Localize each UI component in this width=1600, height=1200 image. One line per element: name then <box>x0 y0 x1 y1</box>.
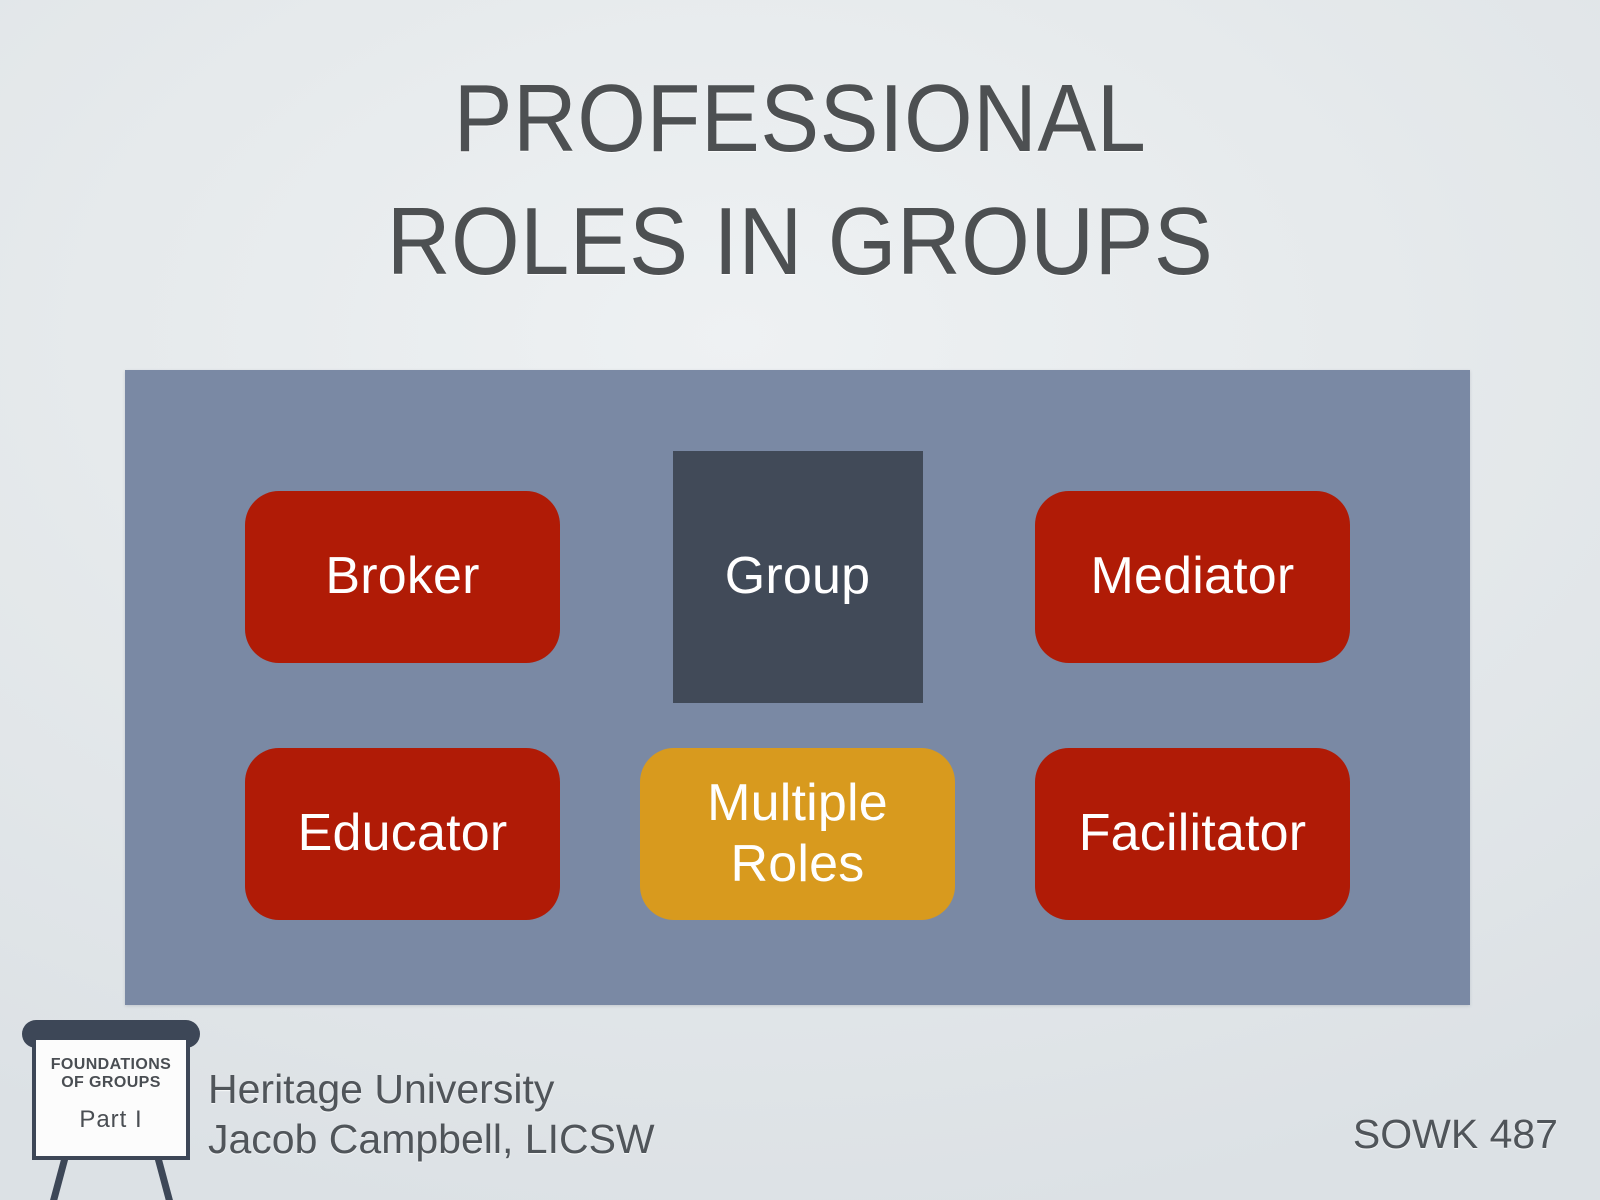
footer-presenter: Jacob Campbell, LICSW <box>208 1114 655 1164</box>
multiple-roles-line-2: Roles <box>731 835 865 893</box>
cell-multiple-roles: Multiple Roles <box>640 748 955 920</box>
roles-diagram-panel: Broker Group Mediator Educator Multiple … <box>125 370 1470 1005</box>
role-box-mediator[interactable]: Mediator <box>1035 491 1350 663</box>
role-box-multiple-roles[interactable]: Multiple Roles <box>640 748 955 920</box>
multiple-roles-line-1: Multiple <box>707 774 888 832</box>
slide-canvas: PROFESSIONAL ROLES IN GROUPS Broker Grou… <box>0 0 1600 1200</box>
role-box-group[interactable]: Group <box>673 451 923 703</box>
page-title: PROFESSIONAL ROLES IN GROUPS <box>64 58 1536 304</box>
footer-institution: Heritage University <box>208 1064 655 1114</box>
role-box-broker[interactable]: Broker <box>245 491 560 663</box>
logo-title-line-2: OF GROUPS <box>36 1074 186 1092</box>
cell-educator: Educator <box>245 748 560 920</box>
easel-flipchart-icon: FOUNDATIONS OF GROUPS Part I <box>18 1012 204 1200</box>
cell-facilitator: Facilitator <box>1035 748 1350 920</box>
roles-row-bottom: Educator Multiple Roles Facilitator <box>245 748 1350 920</box>
footer-attribution: Heritage University Jacob Campbell, LICS… <box>208 1064 655 1164</box>
cell-group: Group <box>673 451 923 703</box>
cell-broker: Broker <box>245 491 560 663</box>
footer-course-code: SOWK 487 <box>1353 1111 1558 1158</box>
title-line-2: ROLES IN GROUPS <box>64 181 1536 304</box>
role-box-facilitator[interactable]: Facilitator <box>1035 748 1350 920</box>
role-box-educator[interactable]: Educator <box>245 748 560 920</box>
logo-part-label: Part I <box>36 1106 186 1134</box>
easel-leg-right-icon <box>154 1155 176 1200</box>
easel-leg-left-icon <box>47 1155 69 1200</box>
easel-board: FOUNDATIONS OF GROUPS Part I <box>32 1036 190 1160</box>
title-line-1: PROFESSIONAL <box>64 58 1536 181</box>
cell-mediator: Mediator <box>1035 491 1350 663</box>
roles-row-top: Broker Group Mediator <box>245 462 1350 692</box>
logo-title-line-1: FOUNDATIONS <box>36 1056 186 1074</box>
